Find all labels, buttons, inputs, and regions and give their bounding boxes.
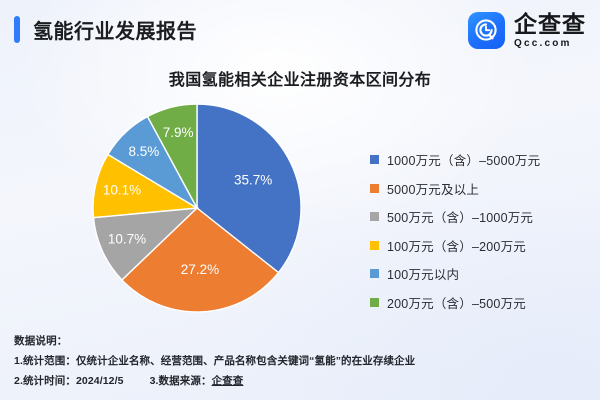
- legend-item[interactable]: 5000万元及以上: [370, 179, 540, 198]
- pie-slice-label: 7.9%: [163, 125, 194, 140]
- legend-swatch-icon: [370, 184, 379, 193]
- legend-swatch-icon: [370, 298, 379, 307]
- notes-line-time-source: 2.统计时间：2024/12/53.数据来源：企查查: [14, 373, 589, 388]
- pie-slice-label: 10.7%: [108, 232, 146, 247]
- legend-item[interactable]: 100万元（含）–200万元: [370, 236, 540, 255]
- pie-slice-group: [93, 104, 301, 312]
- legend-label: 100万元（含）–200万元: [387, 236, 526, 255]
- legend-swatch-icon: [370, 155, 379, 164]
- data-notes: 数据说明： 1.统计范围：仅统计企业名称、经营范围、产品名称包含关键词“氢能”的…: [14, 333, 589, 388]
- chart-title: 我国氢能相关企业注册资本区间分布: [0, 66, 600, 90]
- legend-item[interactable]: 500万元（含）–1000万元: [370, 207, 540, 226]
- legend-item[interactable]: 200万元（含）–500万元: [370, 293, 540, 312]
- notes-time-label: 2.统计时间：: [14, 375, 76, 387]
- brand-name-en: Qcc.com: [514, 39, 586, 49]
- pie-slice-label: 8.5%: [128, 144, 159, 159]
- qcc-logo-icon: [468, 12, 505, 49]
- notes-source-label: 3.数据来源：: [150, 375, 212, 387]
- legend-label: 200万元（含）–500万元: [387, 293, 526, 312]
- chart-area: 35.7%27.2%10.7%10.1%8.5%7.9% 1000万元（含）–5…: [0, 96, 600, 326]
- legend-label: 1000万元（含）–5000万元: [387, 150, 540, 169]
- legend-swatch-icon: [370, 241, 379, 250]
- legend-label: 5000万元及以上: [387, 179, 479, 198]
- pie-slice-label: 10.1%: [103, 182, 141, 197]
- pie-slice-label: 35.7%: [234, 172, 272, 187]
- notes-line-scope: 1.统计范围：仅统计企业名称、经营范围、产品名称包含关键词“氢能”的在业存续企业: [14, 353, 589, 368]
- legend-item[interactable]: 1000万元（含）–5000万元: [370, 150, 540, 169]
- notes-heading: 数据说明：: [14, 333, 589, 348]
- notes-time-value: 2024/12/5: [76, 375, 124, 387]
- brand-text: 企查查 Qcc.com: [514, 13, 586, 49]
- legend-label: 100万元以内: [387, 264, 459, 283]
- legend-swatch-icon: [370, 269, 379, 278]
- legend-item[interactable]: 100万元以内: [370, 264, 540, 283]
- brand-logo[interactable]: 企查查 Qcc.com: [468, 12, 586, 49]
- legend-label: 500万元（含）–1000万元: [387, 207, 533, 226]
- page-title: 氢能行业发展报告: [33, 15, 197, 44]
- legend-swatch-icon: [370, 212, 379, 221]
- page-header: 氢能行业发展报告 企查查 Qcc.com: [0, 0, 600, 58]
- pie-slice-label: 27.2%: [181, 262, 219, 277]
- pie-chart: 35.7%27.2%10.7%10.1%8.5%7.9%: [92, 100, 308, 316]
- notes-source-value[interactable]: 企查查: [212, 375, 244, 387]
- header-accent-bar: [14, 16, 20, 43]
- brand-name-cn: 企查查: [514, 13, 586, 36]
- chart-legend: 1000万元（含）–5000万元5000万元及以上500万元（含）–1000万元…: [370, 150, 540, 312]
